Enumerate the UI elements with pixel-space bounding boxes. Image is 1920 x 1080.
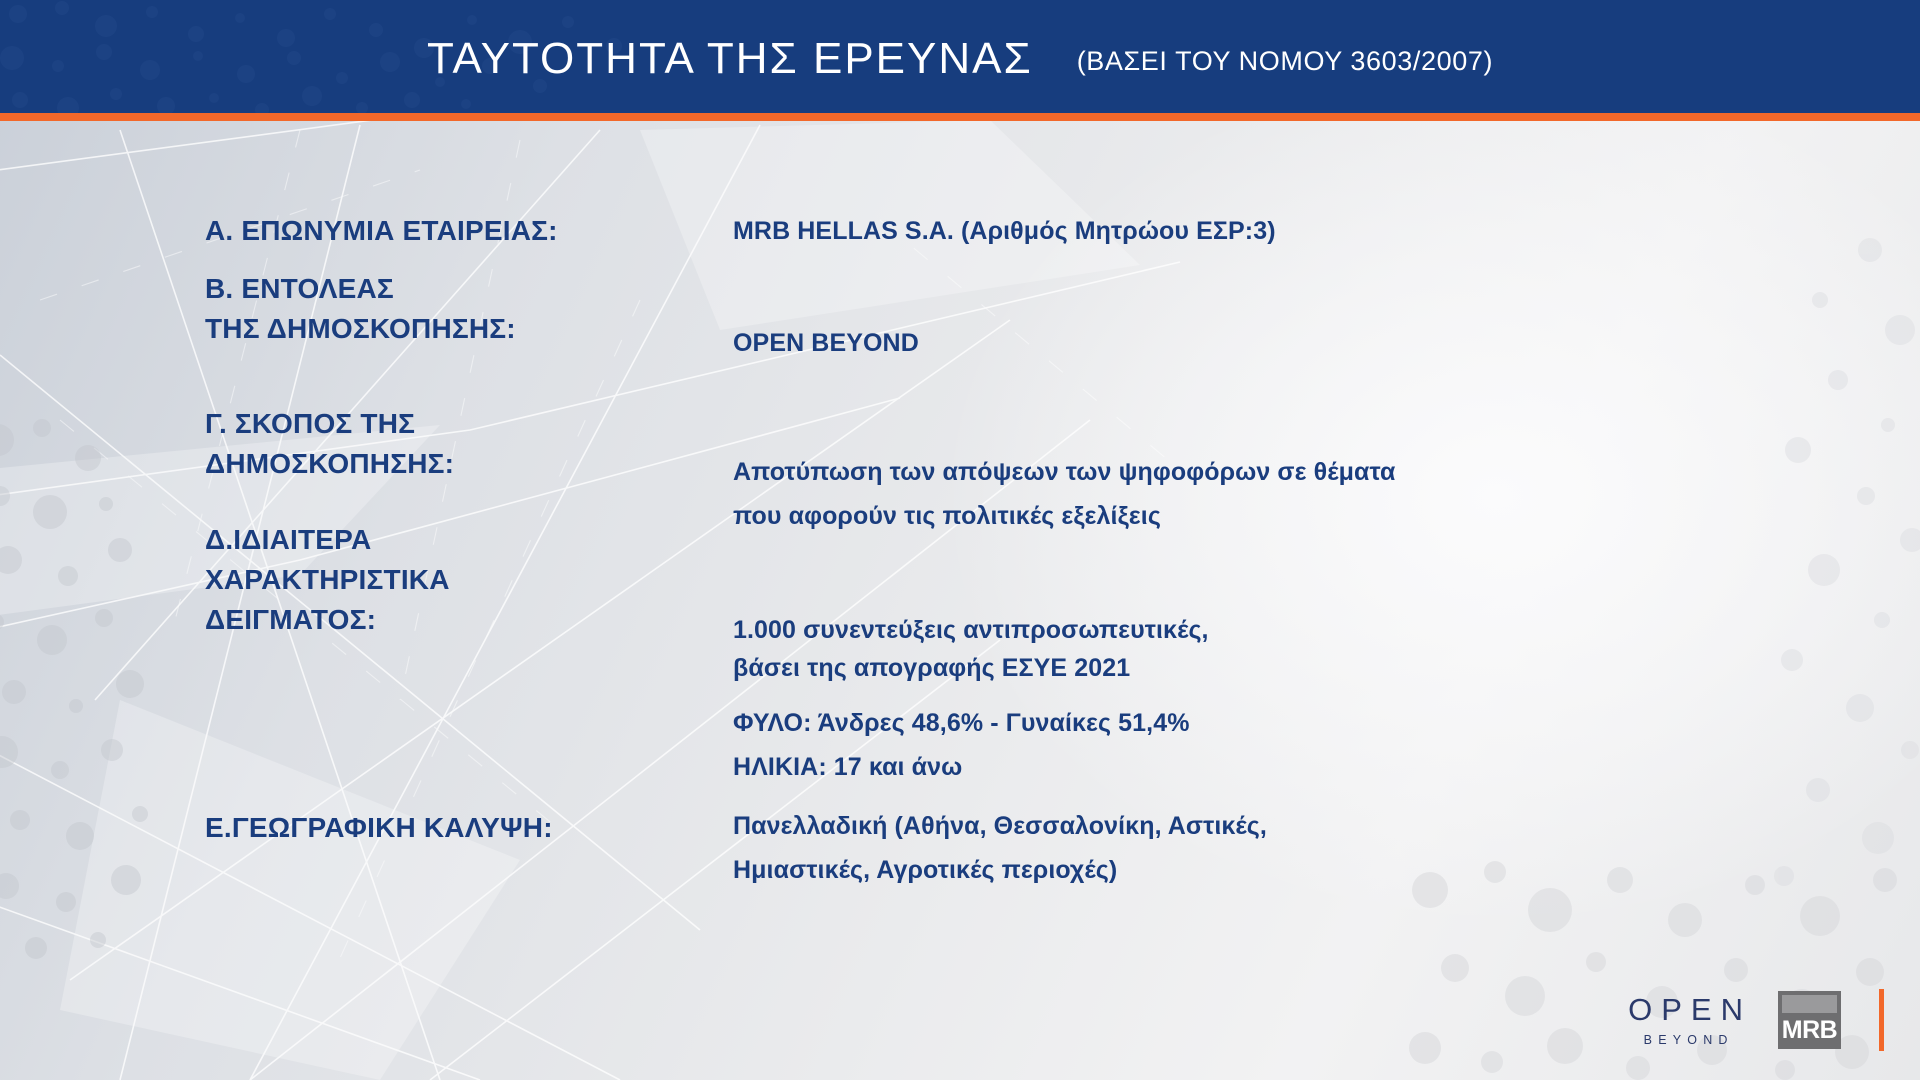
- field-value-geographic-coverage: Πανελλαδική (Αθήνα, Θεσσαλονίκη, Αστικές…: [733, 804, 1267, 892]
- orange-accent-bar: [1879, 989, 1884, 1051]
- field-label-poll-purpose: Γ. ΣΚΟΠΟΣ ΤΗΣ ΔΗΜΟΣΚΟΠΗΣΗΣ:: [205, 404, 454, 484]
- label-line: ΔΕΙΓΜΑΤΟΣ:: [205, 600, 450, 640]
- page-title: ΤΑΥΤΟΤΗΤΑ ΤΗΣ ΕΡΕΥΝΑΣ: [427, 37, 1033, 81]
- field-value-poll-purpose: Αποτύπωση των απόψεων των ψηφοφόρων σε θ…: [733, 450, 1396, 538]
- value-line: 1.000 συνεντεύξεις αντιπροσωπευτικές,: [733, 611, 1209, 649]
- slide-root: ΤΑΥΤΟΤΗΤΑ ΤΗΣ ΕΡΕΥΝΑΣ (ΒΑΣΕΙ ΤΟΥ ΝΟΜΟΥ 3…: [0, 0, 1920, 1080]
- open-beyond-logo: OPEN BEYOND: [1619, 994, 1752, 1047]
- field-value-company-name: MRB HELLAS S.A. (Αριθμός Μητρώου ΕΣΡ:3): [733, 209, 1276, 253]
- header-orange-rule: [0, 113, 1920, 121]
- value-line: Ημιαστικές, Αγροτικές περιοχές): [733, 848, 1267, 892]
- footer-logo-group: OPEN BEYOND MRB: [1619, 984, 1884, 1056]
- mrb-logo: MRB: [1778, 991, 1841, 1049]
- label-line: ΧΑΡΑΚΤΗΡΙΣΤΙΚΑ: [205, 560, 450, 600]
- label-line: Α. ΕΠΩΝΥΜΙΑ ΕΤΑΙΡΕΙΑΣ:: [205, 211, 558, 251]
- value-line: Αποτύπωση των απόψεων των ψηφοφόρων σε θ…: [733, 450, 1396, 494]
- field-label-company-name: Α. ΕΠΩΝΥΜΙΑ ΕΤΑΙΡΕΙΑΣ:: [205, 211, 558, 251]
- value-line-gender: ΦΥΛΟ: Άνδρες 48,6% - Γυναίκες 51,4%: [733, 701, 1190, 745]
- beyond-wordmark: BEYOND: [1637, 1034, 1733, 1047]
- field-label-sample-characteristics: Δ.ΙΔΙΑΙΤΕΡΑ ΧΑΡΑΚΤΗΡΙΣΤΙΚΑ ΔΕΙΓΜΑΤΟΣ:: [205, 520, 450, 640]
- field-value-sample-demographics: ΦΥΛΟ: Άνδρες 48,6% - Γυναίκες 51,4% ΗΛΙΚ…: [733, 701, 1190, 789]
- mrb-wordmark: MRB: [1782, 1015, 1837, 1045]
- value-line: OPEN BEYOND: [733, 321, 919, 365]
- label-line: Γ. ΣΚΟΠΟΣ ΤΗΣ: [205, 404, 454, 444]
- label-line: Δ.ΙΔΙΑΙΤΕΡΑ: [205, 520, 450, 560]
- value-line: MRB HELLAS S.A. (Αριθμός Μητρώου ΕΣΡ:3): [733, 209, 1276, 253]
- value-line: που αφορούν τις πολιτικές εξελίξεις: [733, 494, 1396, 538]
- value-line: βάσει της απογραφής ΕΣΥΕ 2021: [733, 649, 1209, 687]
- field-value-sample-size: 1.000 συνεντεύξεις αντιπροσωπευτικές, βά…: [733, 611, 1209, 687]
- label-line: ΤΗΣ ΔΗΜΟΣΚΟΠΗΣΗΣ:: [205, 309, 516, 349]
- page-subtitle-law-reference: (ΒΑΣΕΙ ΤΟΥ ΝΟΜΟΥ 3603/2007): [1077, 48, 1493, 75]
- field-value-poll-commissioner: OPEN BEYOND: [733, 321, 919, 365]
- label-line: Β. ΕΝΤΟΛΕΑΣ: [205, 269, 516, 309]
- field-label-geographic-coverage: Ε.ΓΕΩΓΡΑΦΙΚΗ ΚΑΛΥΨΗ:: [205, 808, 553, 848]
- open-wordmark: OPEN: [1619, 994, 1752, 1025]
- value-line-age: ΗΛΙΚΙΑ: 17 και άνω: [733, 745, 1190, 789]
- field-label-poll-commissioner: Β. ΕΝΤΟΛΕΑΣ ΤΗΣ ΔΗΜΟΣΚΟΠΗΣΗΣ:: [205, 269, 516, 349]
- label-line: ΔΗΜΟΣΚΟΠΗΣΗΣ:: [205, 444, 454, 484]
- label-line: Ε.ΓΕΩΓΡΑΦΙΚΗ ΚΑΛΥΨΗ:: [205, 808, 553, 848]
- content-area: Α. ΕΠΩΝΥΜΙΑ ΕΤΑΙΡΕΙΑΣ: MRB HELLAS S.A. (…: [0, 121, 1920, 1080]
- header-banner: ΤΑΥΤΟΤΗΤΑ ΤΗΣ ΕΡΕΥΝΑΣ (ΒΑΣΕΙ ΤΟΥ ΝΟΜΟΥ 3…: [0, 0, 1920, 113]
- mrb-logo-bar: [1782, 995, 1837, 1013]
- value-line: Πανελλαδική (Αθήνα, Θεσσαλονίκη, Αστικές…: [733, 804, 1267, 848]
